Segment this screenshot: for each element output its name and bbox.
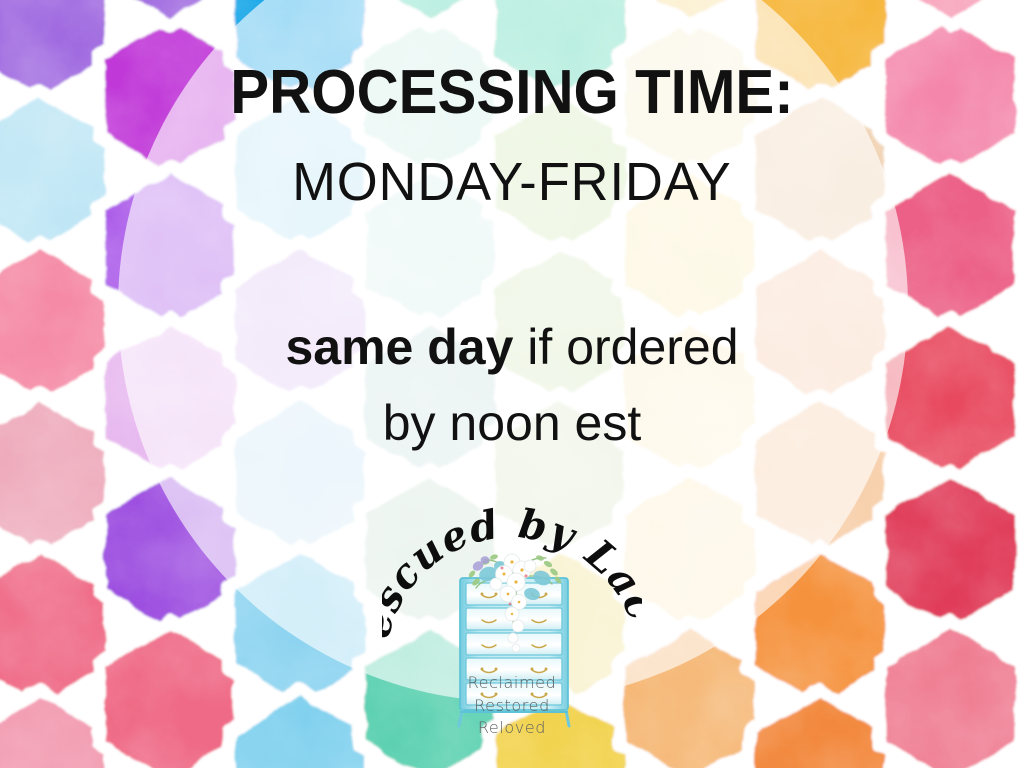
tagline-line-2: Restored	[382, 695, 642, 718]
page-title-days: MONDAY-FRIDAY	[15, 155, 1008, 209]
body-line-2: by noon est	[0, 398, 1024, 448]
tagline-line-3: Reloved	[382, 717, 642, 740]
body-line-1: same day if ordered	[0, 322, 1024, 372]
body-emphasis-same-day: same day	[285, 319, 513, 375]
page-title-processing-time: PROCESSING TIME:	[31, 62, 994, 124]
brand-logo: Rescued by Lacey Reclaimed Restored Relo…	[382, 482, 642, 747]
logo-tagline: Reclaimed Restored Reloved	[382, 672, 642, 740]
tagline-line-1: Reclaimed	[382, 672, 642, 695]
promo-graphic-canvas: PROCESSING TIME: MONDAY-FRIDAY same day …	[0, 0, 1024, 768]
body-text-if-ordered: if ordered	[513, 319, 738, 375]
